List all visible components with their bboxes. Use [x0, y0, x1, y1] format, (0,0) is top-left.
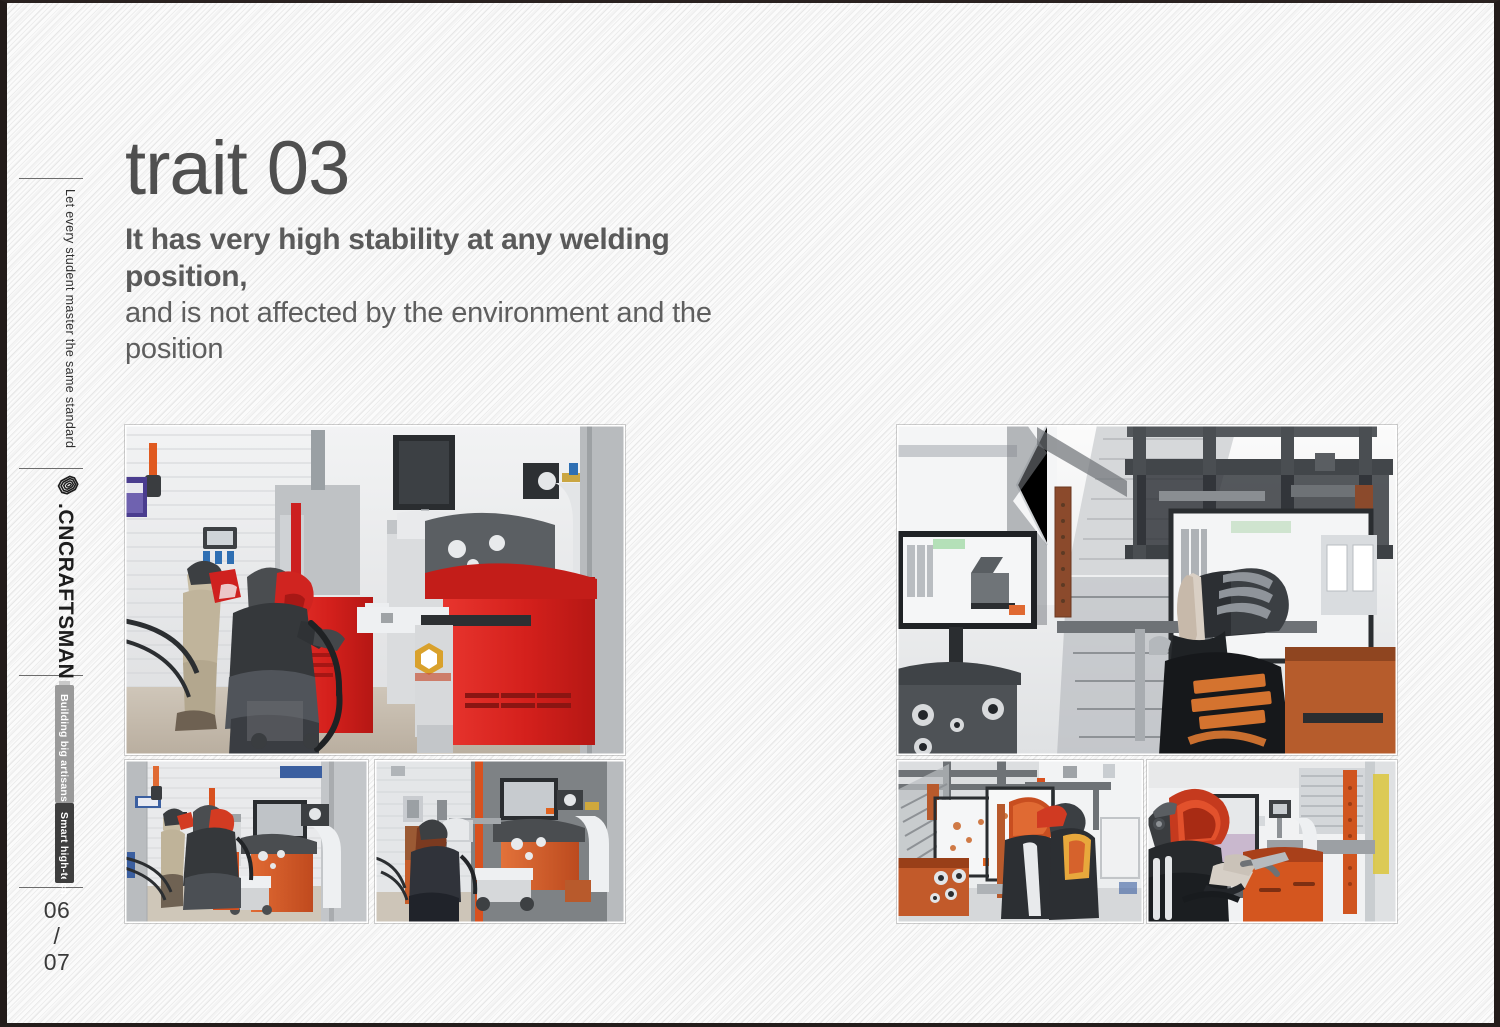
left-vertical-rail: Let every student master the same standa… — [7, 3, 107, 1023]
photo-main-left — [125, 425, 625, 755]
photo-sub-left-2 — [375, 760, 625, 923]
page-title: trait 03 — [125, 131, 765, 207]
rail-tagline: Let every student master the same standa… — [63, 189, 77, 448]
photo-main-right — [897, 425, 1397, 755]
page-number-bottom: 07 — [7, 949, 107, 975]
page-number-separator: / — [7, 923, 107, 949]
lead-regular-text: and is not affected by the environment a… — [125, 295, 765, 367]
headline-block: trait 03 It has very high stability at a… — [125, 131, 765, 367]
rail-divider-2 — [19, 468, 83, 469]
badge-smart-high-tech: Smart high-tech — [55, 803, 74, 883]
photo-sub-right-1 — [897, 760, 1143, 923]
brochure-page: Let every student master the same standa… — [0, 0, 1500, 1027]
lead-bold-text: It has very high stability at any weldin… — [125, 221, 765, 295]
page-number: 06 / 07 — [7, 897, 107, 975]
page-number-top: 06 — [7, 897, 107, 923]
rail-divider-1 — [19, 178, 83, 179]
photo-sub-right-2 — [1147, 760, 1397, 923]
brand-name: .CNCRAFTSMAN — [53, 503, 77, 679]
badge-building-big-artisans: Building big artisans — [55, 685, 74, 803]
badge-nub-bottom — [59, 879, 70, 883]
rail-divider-4 — [19, 887, 83, 888]
spiral-hexagon-logo-icon — [56, 475, 82, 501]
photo-sub-left-1 — [125, 760, 368, 923]
